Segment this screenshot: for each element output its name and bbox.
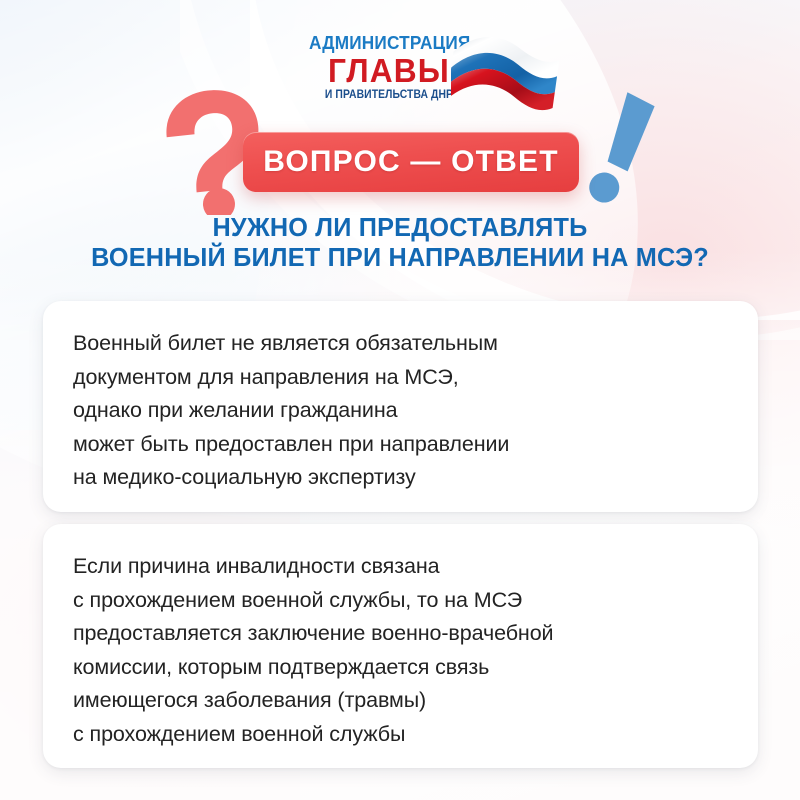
answer-line: Военный билет не является обязательным bbox=[73, 327, 728, 361]
logo: АДМИНИСТРАЦИЯ ГЛАВЫ И ПРАВИТЕЛЬСТВА ДНР bbox=[303, 33, 553, 115]
answer-line: документом для направления на МСЭ, bbox=[73, 361, 728, 395]
answer-line: комиссии, которым подтверждается связь bbox=[73, 651, 728, 685]
answer-card-2: Если причина инвалидности связана с прох… bbox=[43, 524, 758, 768]
answer-line: имеющегося заболевания (травмы) bbox=[73, 684, 728, 718]
logo-line-government: И ПРАВИТЕЛЬСТВА ДНР bbox=[312, 89, 467, 102]
logo-line-administration: АДМИНИСТРАЦИЯ bbox=[309, 33, 469, 53]
banner-label: ВОПРОС — ОТВЕТ bbox=[263, 145, 559, 179]
answer-card-1: Военный билет не является обязательным д… bbox=[43, 301, 758, 512]
exclamation-mark-icon bbox=[586, 88, 666, 208]
headline-line-1: НУЖНО ЛИ ПРЕДОСТАВЛЯТЬ bbox=[4, 213, 796, 243]
russian-tricolor-flag-icon bbox=[451, 33, 559, 113]
headline-line-2: ВОЕННЫЙ БИЛЕТ ПРИ НАПРАВЛЕНИИ НА МСЭ? bbox=[4, 243, 796, 273]
answer-line: на медико-социальную экспертизу bbox=[73, 461, 728, 495]
answer-line: предоставляется заключение военно-врачеб… bbox=[73, 617, 728, 651]
infographic-poster: АДМИНИСТРАЦИЯ ГЛАВЫ И ПРАВИТЕЛЬСТВА ДНР bbox=[0, 0, 800, 800]
answer-line: Если причина инвалидности связана bbox=[73, 550, 728, 584]
answer-line: с прохождением военной службы, то на МСЭ bbox=[73, 584, 728, 618]
answer-card-1-body: Военный билет не является обязательным д… bbox=[43, 301, 758, 495]
answer-line: может быть предоставлен при направлении bbox=[73, 428, 728, 462]
page-title: НУЖНО ЛИ ПРЕДОСТАВЛЯТЬ ВОЕННЫЙ БИЛЕТ ПРИ… bbox=[0, 213, 800, 273]
answer-line: однако при желании гражданина bbox=[73, 394, 728, 428]
question-answer-banner: ВОПРОС — ОТВЕТ bbox=[243, 132, 579, 192]
logo-line-head: ГЛАВЫ bbox=[306, 54, 471, 87]
answer-card-2-body: Если причина инвалидности связана с прох… bbox=[43, 524, 758, 751]
logo-text-block: АДМИНИСТРАЦИЯ ГЛАВЫ И ПРАВИТЕЛЬСТВА ДНР bbox=[303, 33, 475, 102]
answer-line: с прохождением военной службы bbox=[73, 718, 728, 752]
